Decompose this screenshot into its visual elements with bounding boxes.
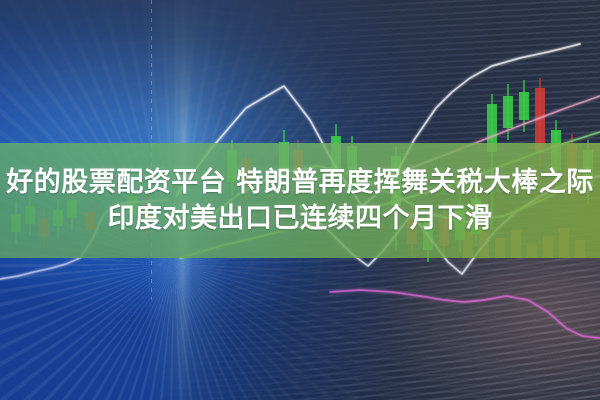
news-banner-image: 好的股票配资平台 特朗普再度挥舞关税大棒之际 印度对美出口已连续四个月下滑 bbox=[0, 0, 600, 400]
headline-block: 好的股票配资平台 特朗普再度挥舞关税大棒之际 印度对美出口已连续四个月下滑 bbox=[0, 143, 600, 258]
headline-line-1: 好的股票配资平台 特朗普再度挥舞关税大棒之际 bbox=[6, 168, 593, 197]
headline-line-2: 印度对美出口已连续四个月下滑 bbox=[108, 204, 493, 233]
